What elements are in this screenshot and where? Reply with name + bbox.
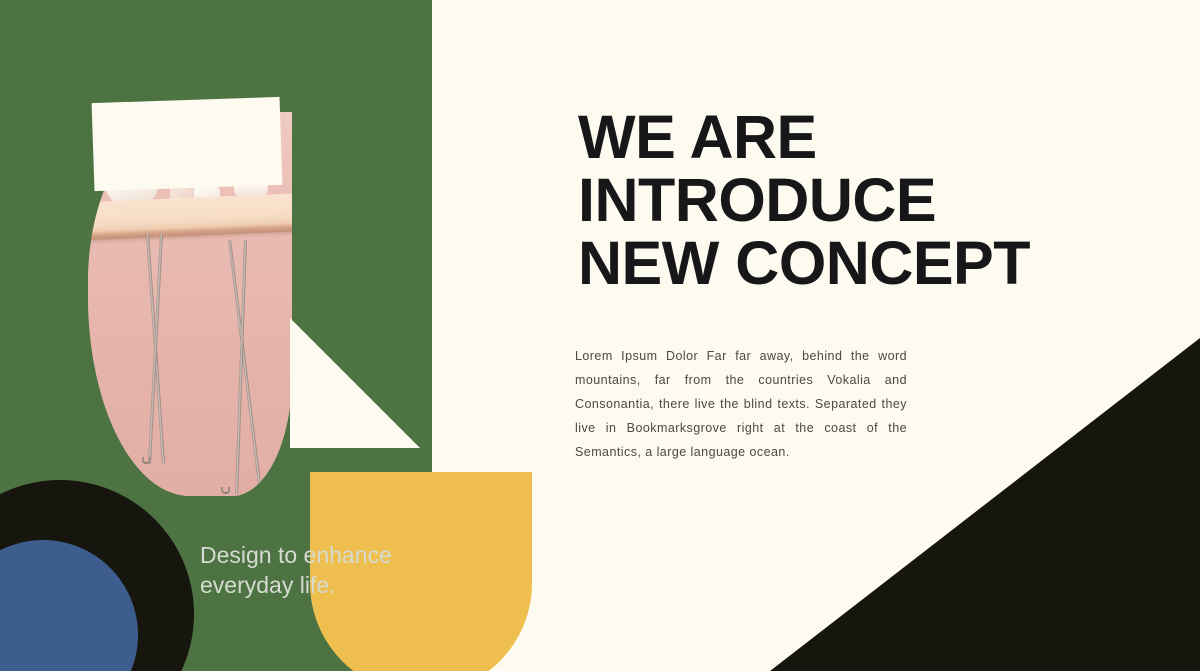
slide-caption: Design to enhance everyday life. [200, 540, 430, 600]
body-paragraph: Lorem Ipsum Dolor Far far away, behind t… [575, 344, 907, 464]
black-diagonal-corner [0, 0, 1200, 671]
presentation-slide: WE ARE INTRODUCE NEW CONCEPT Lorem Ipsum… [0, 0, 1200, 671]
page-title: WE ARE INTRODUCE NEW CONCEPT [578, 106, 1178, 295]
